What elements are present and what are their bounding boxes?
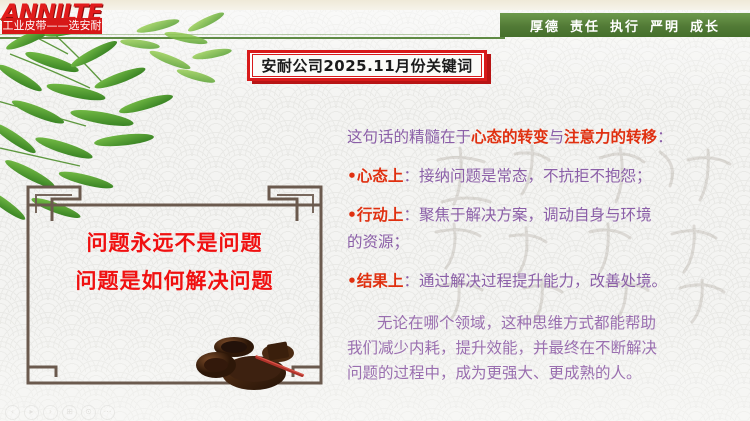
quote-line-2: 问题是如何解决问题 [22,265,327,295]
slide-canvas: ANNILTE 工业皮带——选安耐 厚德责任执行严明成长 安耐公司2025.11… [0,0,750,421]
top-strip [0,0,750,10]
values-banner: 厚德责任执行严明成长 [500,13,750,37]
header-green-rule [0,37,505,39]
intro-mid: 与 [549,128,565,146]
paragraph-text: 无论在哪个领域，这种思维方式都能帮助 [377,314,656,332]
bullet-text: 接纳问题是常态，不抗拒不抱怨； [419,167,652,185]
next-slide-icon[interactable]: › [43,405,58,420]
bullet-label: 结果上 [357,272,404,290]
company-logo: ANNILTE 工业皮带——选安耐 [2,2,106,35]
bullet-marker: • [347,206,357,224]
banner-word: 厚德 [530,20,560,35]
bullet-item: •心态上：接纳问题是常态，不抗拒不抱怨； [347,163,745,190]
bullet-separator: ： [403,272,419,290]
bullet-text: 聚焦于解决方案，调动自身与环境 [419,206,652,224]
intro-line: 这句话的精髓在于心态的转变与注意力的转移： [347,124,745,151]
intro-highlight-1: 心态的转变 [471,128,549,146]
more-icon[interactable]: ⋯ [100,405,115,420]
bullet-item-wrap: 的资源； [347,229,745,256]
coins-inkstone-image [190,337,310,392]
bullet-text: 通过解决过程提升能力，改善处境。 [419,272,667,290]
play-slide-icon[interactable]: ▸ [24,405,39,420]
slideshow-controls[interactable]: ‹▸›⊞⊙⋯ [5,405,115,419]
paragraph-line: 无论在哪个领域，这种思维方式都能帮助 [347,311,745,336]
paragraph-text: 我们减少内耗，提升效能，并最终在不断解决 [347,339,657,357]
intro-pre: 这句话的精髓在于 [347,128,471,146]
slide-title-box: 安耐公司2025.11月份关键词 [247,50,491,84]
page-title: 安耐公司2025.11月份关键词 [261,55,472,76]
paragraph-line: 我们减少内耗，提升效能，并最终在不断解决 [347,336,745,361]
banner-word: 严明 [650,20,680,35]
bullet-separator: ： [403,206,419,224]
bullet-label: 行动上 [357,206,404,224]
logo-tagline: 工业皮带——选安耐 [2,18,102,34]
banner-word: 责任 [570,20,600,35]
title-inner-border: 安耐公司2025.11月份关键词 [252,54,482,77]
bullet-item: •行动上：聚焦于解决方案，调动自身与环境 [347,202,745,229]
closing-paragraph: 无论在哪个领域，这种思维方式都能帮助 我们减少内耗，提升效能，并最终在不断解决 … [347,311,745,386]
banner-word: 成长 [690,20,720,35]
bullet-label: 心态上 [357,167,404,185]
bullet-text: 的资源； [347,233,409,251]
prev-slide-icon[interactable]: ‹ [5,405,20,420]
paragraph-line: 问题的过程中，成为更强大、更成熟的人。 [347,361,745,386]
bullet-marker: • [347,167,357,185]
values-banner-text: 厚德责任执行严明成长 [525,16,725,35]
menu-icon[interactable]: ⊞ [62,405,77,420]
bullet-list: •心态上：接纳问题是常态，不抗拒不抱怨； •行动上：聚焦于解决方案，调动自身与环… [347,163,745,295]
content-column: 这句话的精髓在于心态的转变与注意力的转移： •心态上：接纳问题是常态，不抗拒不抱… [347,124,745,386]
quote-line-1: 问题永远不是问题 [22,227,327,257]
intro-post: ： [657,128,673,146]
paragraph-text: 问题的过程中，成为更强大、更成熟的人。 [347,364,642,382]
banner-word: 执行 [610,20,640,35]
intro-highlight-2: 注意力的转移 [564,128,657,146]
bullet-marker: • [347,272,357,290]
zoom-icon[interactable]: ⊙ [81,405,96,420]
bullet-separator: ： [403,167,419,185]
bullet-item: •结果上：通过解决过程提升能力，改善处境。 [347,268,745,295]
